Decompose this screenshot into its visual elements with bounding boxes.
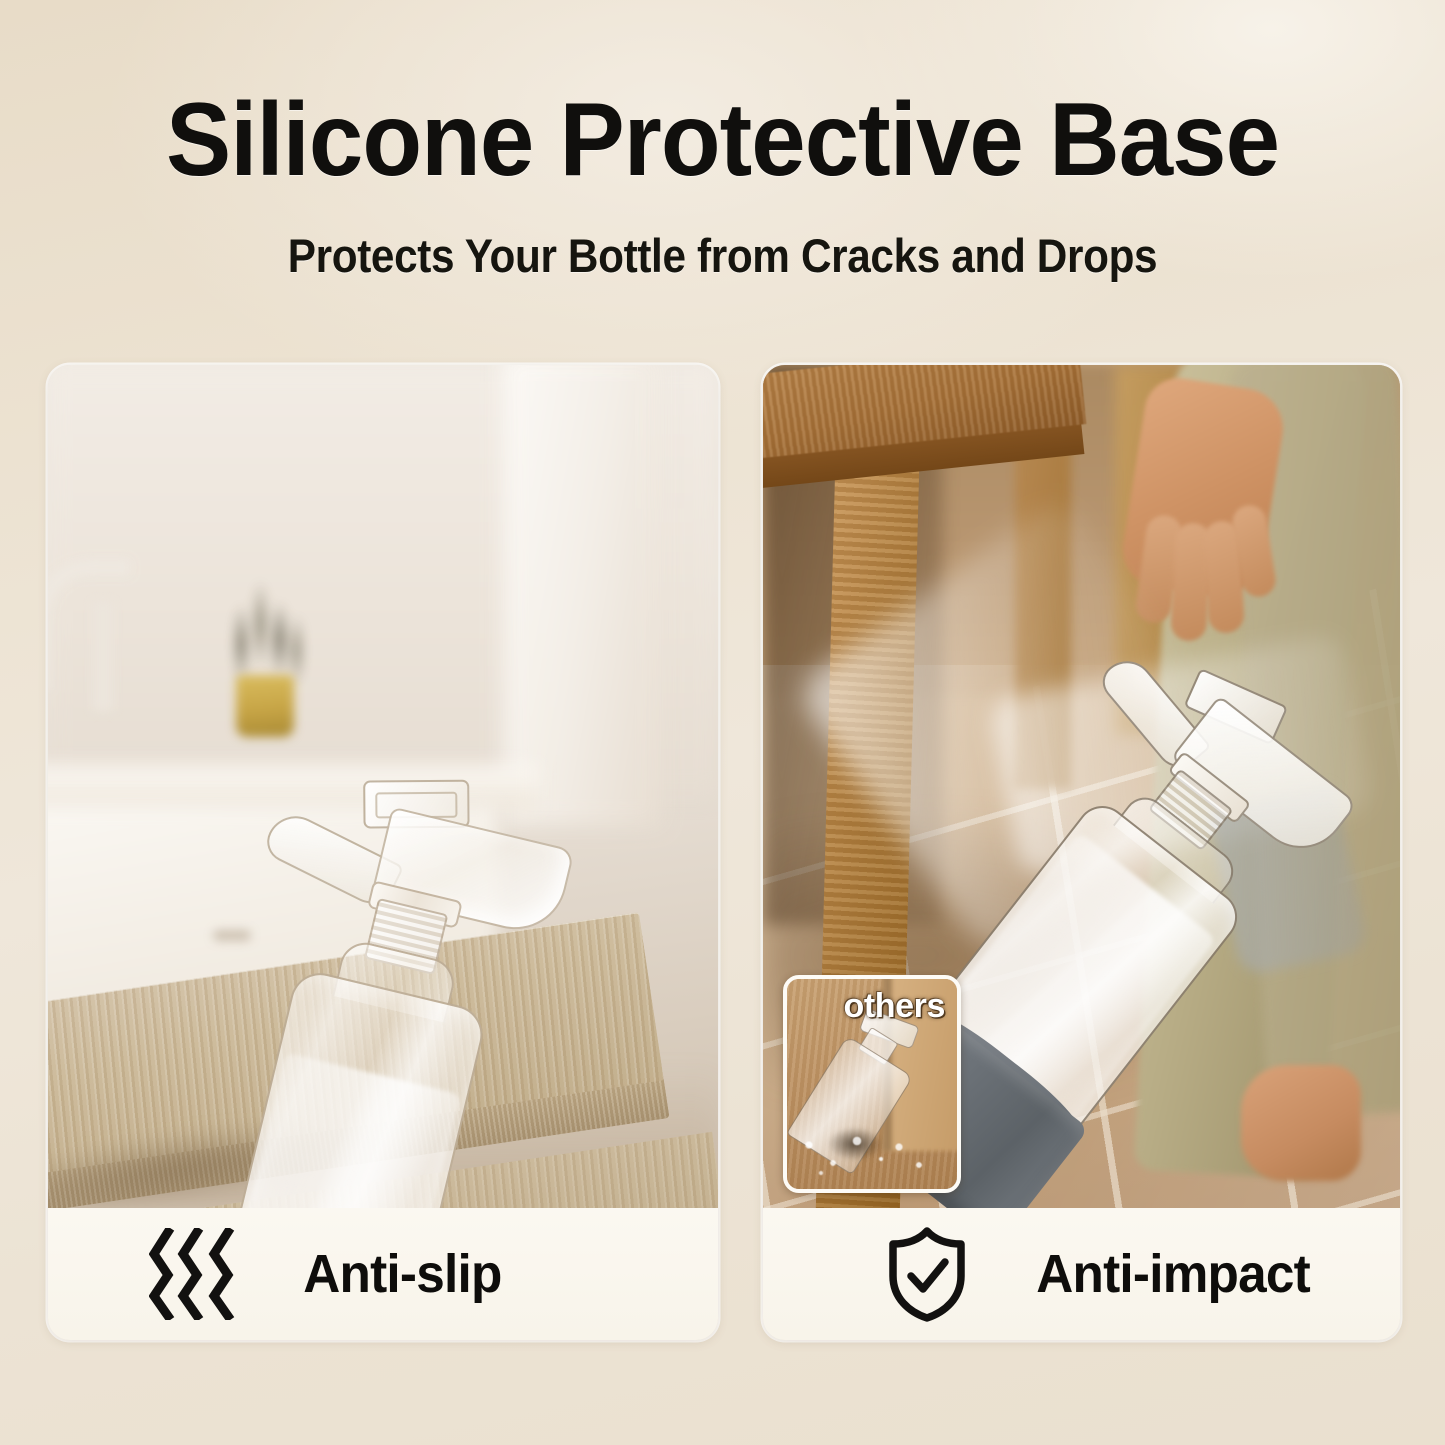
shield-check-icon (871, 1226, 983, 1322)
feature-panel-anti-slip: Anti-slip (48, 365, 718, 1340)
feature-panel-anti-impact: others Anti-impact (763, 365, 1400, 1340)
page-title: Silicone Protective Base (43, 88, 1401, 192)
photo-anti-slip-scene (48, 365, 718, 1208)
page-subtitle: Protects Your Bottle from Cracks and Dro… (72, 228, 1373, 283)
light-column-blur (503, 365, 661, 825)
caption-label-anti-impact: Anti-impact (1036, 1243, 1310, 1305)
header: Silicone Protective Base Protects Your B… (0, 0, 1445, 283)
faucet-icon (48, 560, 130, 690)
inset-label-others: others (843, 987, 945, 1026)
inset-glass-shards (793, 1129, 943, 1187)
others-comparison-inset: others (783, 975, 961, 1193)
potted-plant-foliage (220, 577, 316, 685)
faucet-stem (92, 601, 114, 711)
caption-anti-impact: Anti-impact (763, 1208, 1400, 1340)
caption-label-anti-slip: Anti-slip (303, 1243, 501, 1305)
plant-pot (236, 675, 294, 737)
cabinet-handle (213, 930, 251, 941)
photo-anti-impact-scene: others (763, 365, 1400, 1208)
zigzag-waves-icon (136, 1228, 248, 1320)
caption-anti-slip: Anti-slip (48, 1208, 718, 1340)
